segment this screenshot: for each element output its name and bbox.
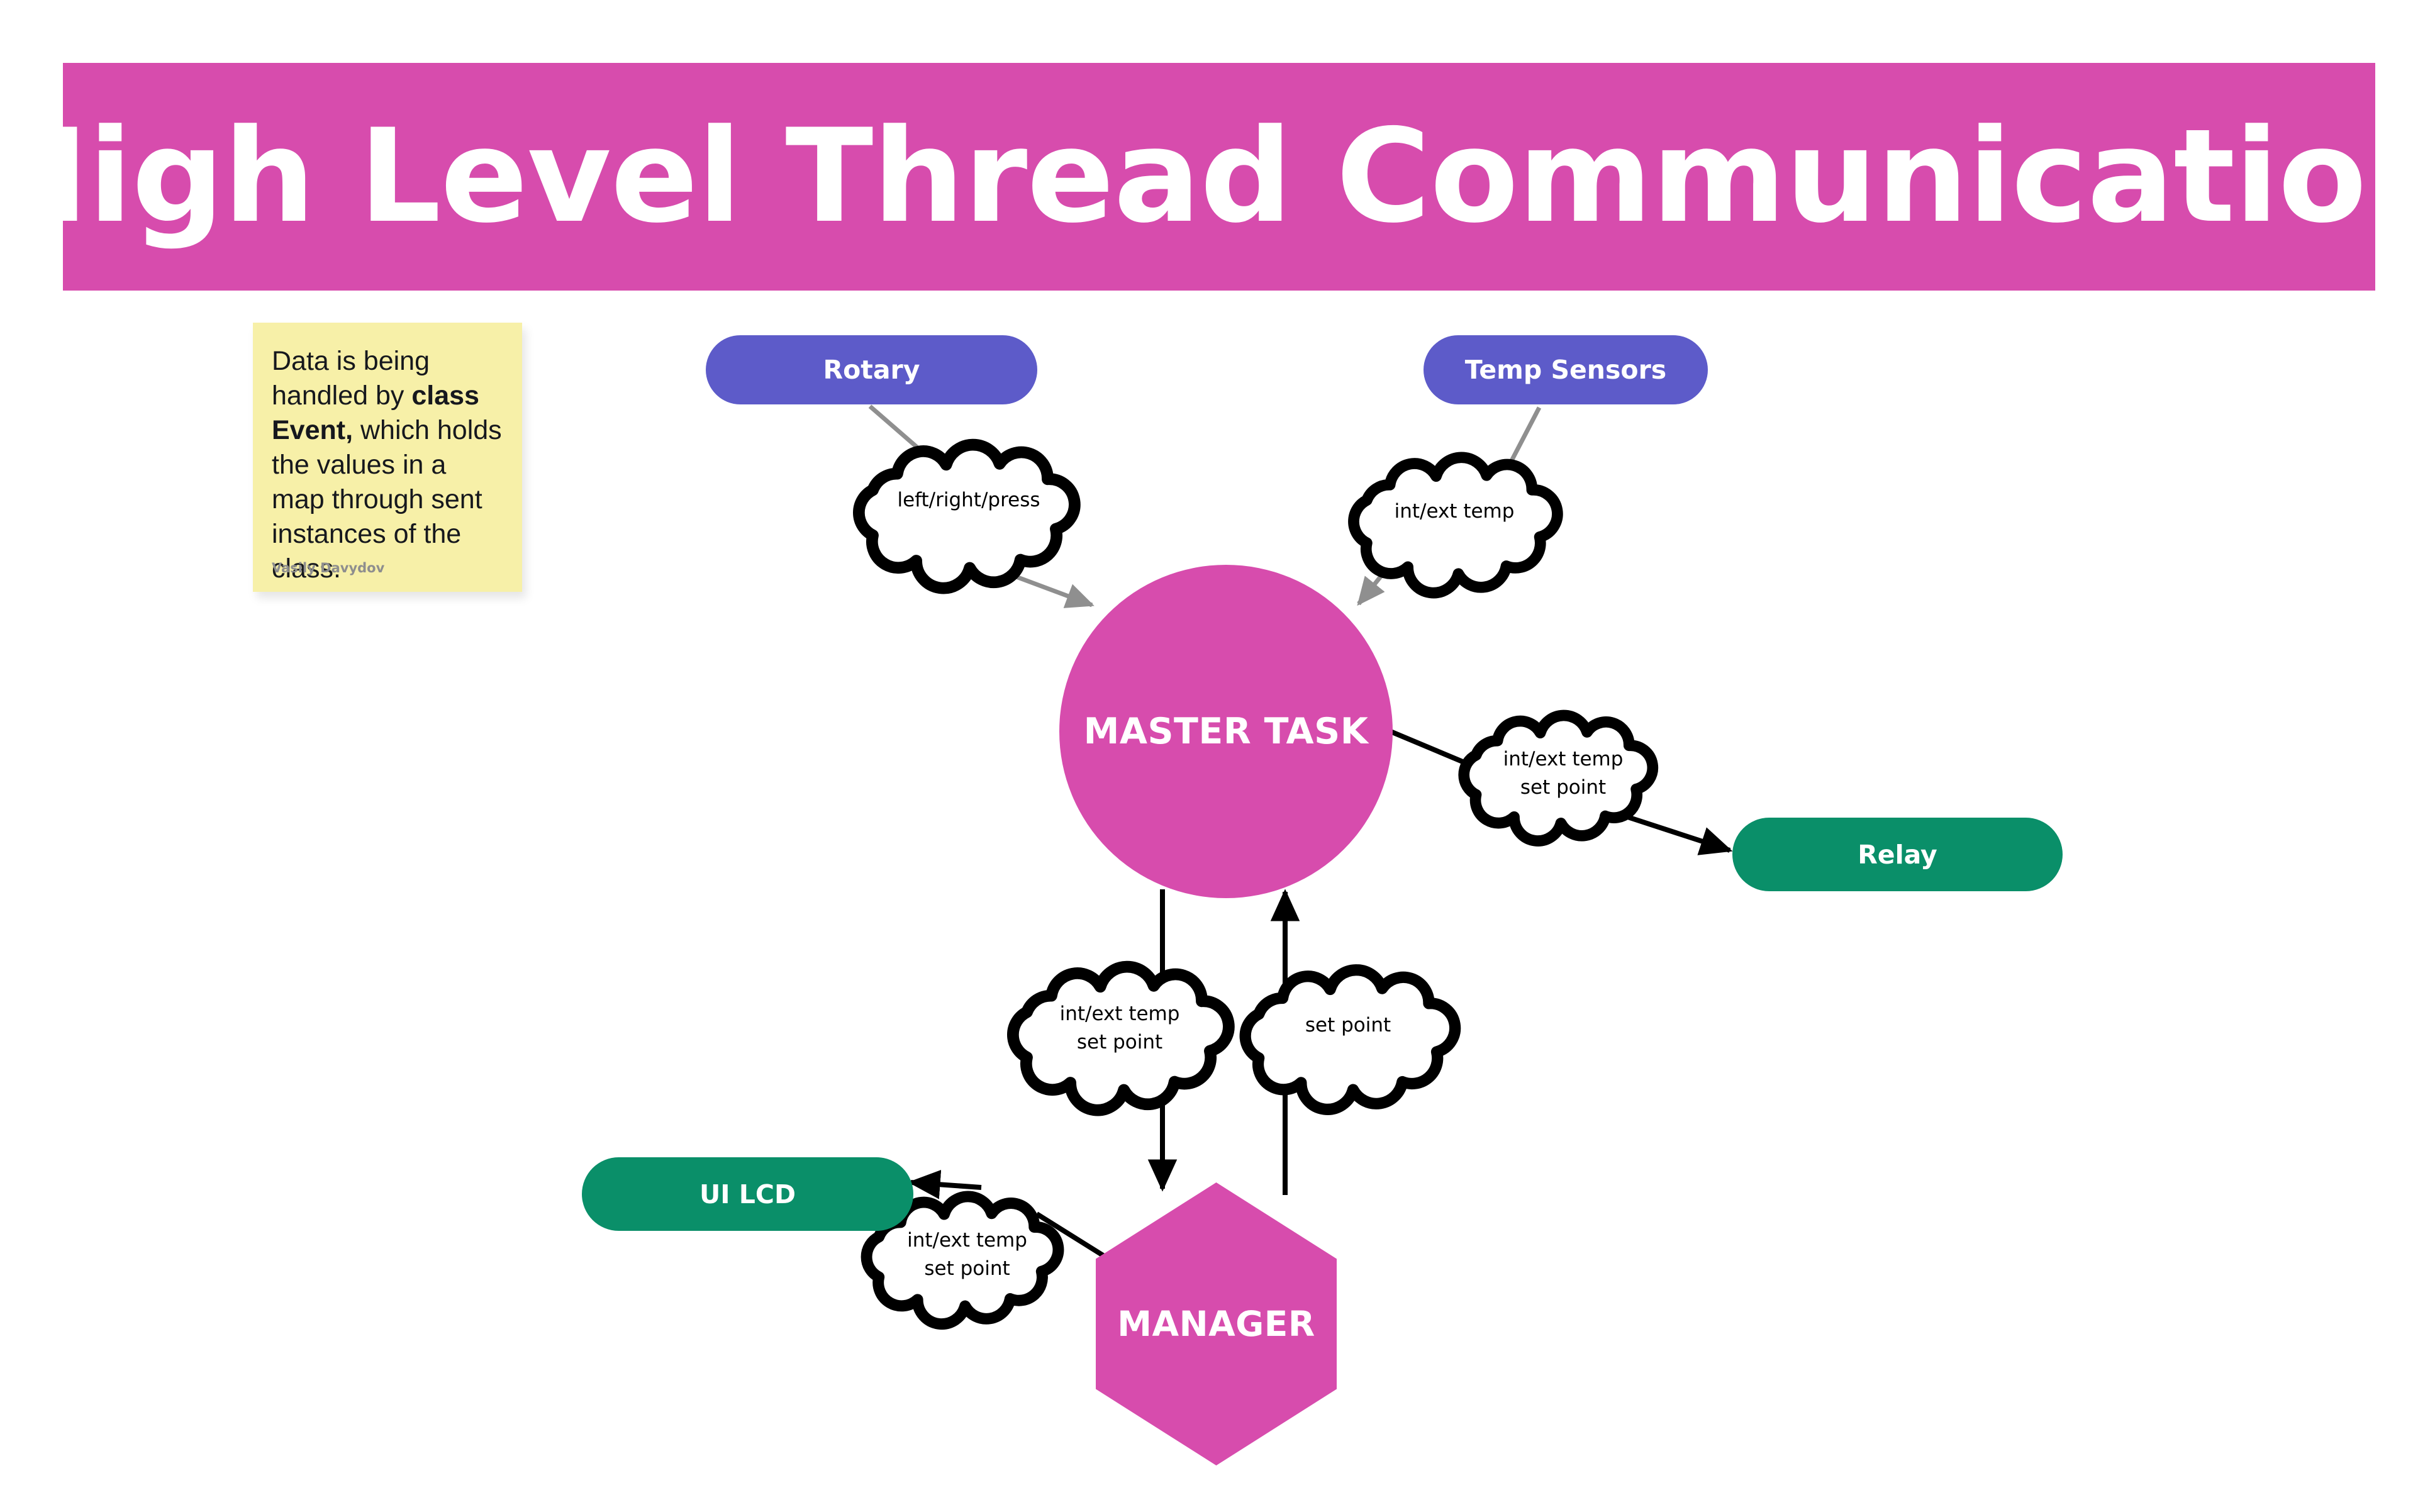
node-temp-sensors-label: Temp Sensors bbox=[1465, 355, 1666, 385]
cloud-master-to-manager bbox=[1013, 967, 1229, 1110]
node-rotary[interactable]: Rotary bbox=[706, 335, 1037, 404]
node-relay-label: Relay bbox=[1858, 840, 1937, 870]
node-master-task[interactable]: MASTER TASK bbox=[1059, 565, 1393, 898]
node-relay[interactable]: Relay bbox=[1732, 818, 2063, 891]
cloud-manager-to-master bbox=[1245, 970, 1455, 1109]
cloud-rotary-events bbox=[859, 445, 1074, 588]
cloud-relay-payload bbox=[1464, 715, 1652, 840]
cloud-temp-reading bbox=[1354, 457, 1557, 592]
node-master-task-label: MASTER TASK bbox=[1084, 711, 1369, 752]
node-manager-label: MANAGER bbox=[1117, 1304, 1315, 1344]
edge-lcd-cloud-to-ui-lcd bbox=[911, 1182, 981, 1187]
node-rotary-label: Rotary bbox=[823, 355, 920, 385]
node-temp-sensors[interactable]: Temp Sensors bbox=[1424, 335, 1708, 404]
node-ui-lcd[interactable]: UI LCD bbox=[582, 1157, 913, 1231]
node-ui-lcd-label: UI LCD bbox=[699, 1179, 796, 1209]
